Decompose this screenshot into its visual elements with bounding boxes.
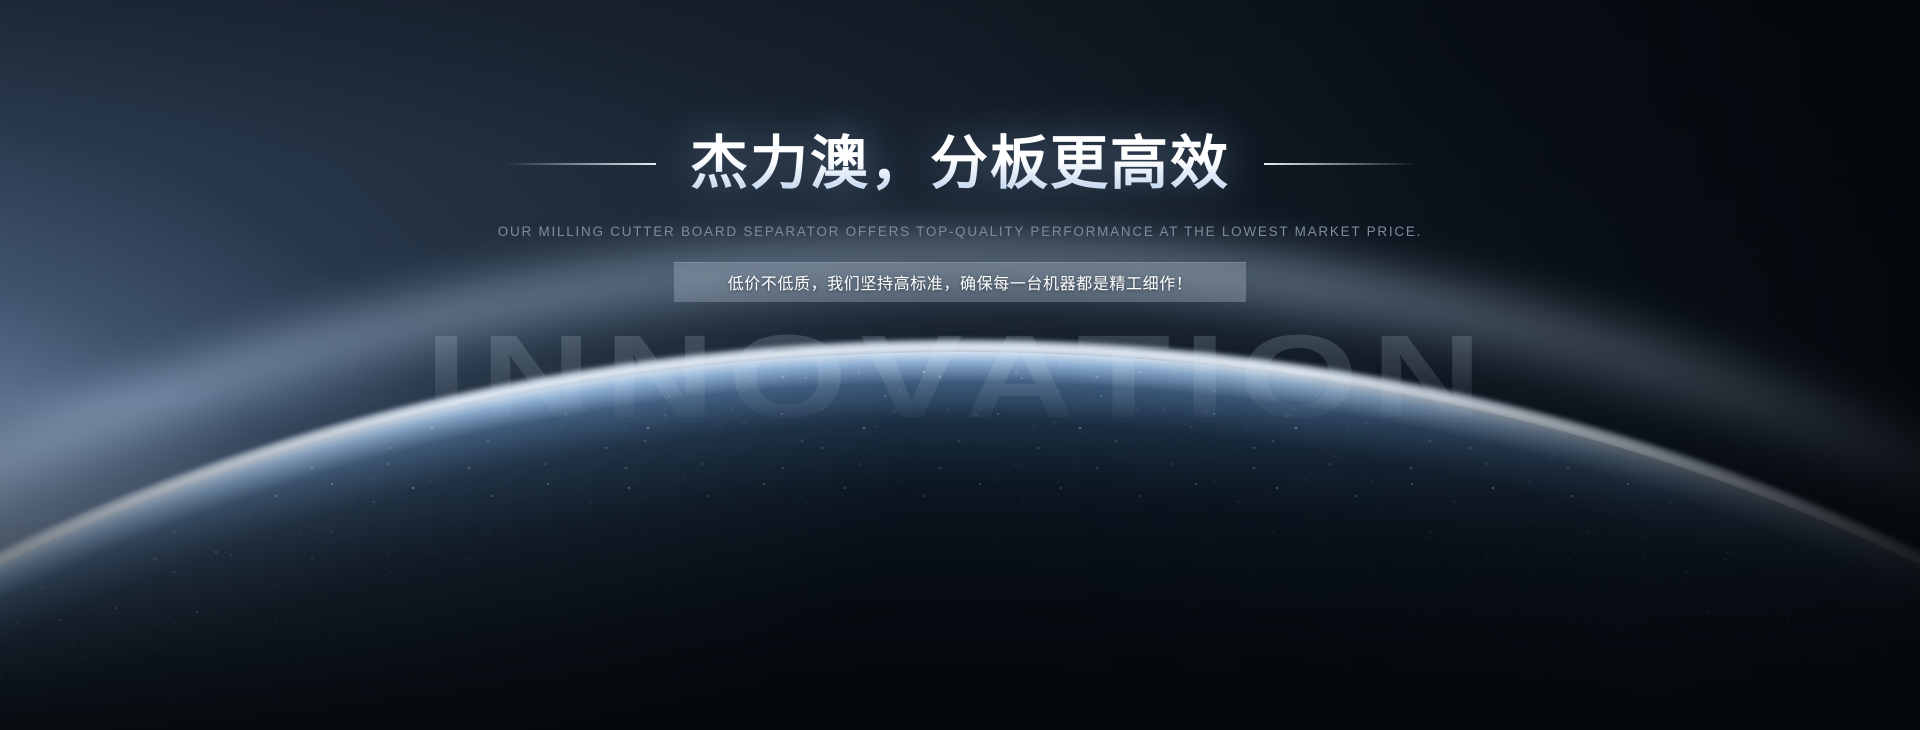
subtitle-english: OUR MILLING CUTTER BOARD SEPARATOR OFFER… — [0, 224, 1920, 239]
title-rule-right-icon — [1264, 163, 1416, 165]
title-row: 杰力澳，分板更高效 — [0, 132, 1920, 196]
tagline-text: 低价不低质，我们坚持高标准，确保每一台机器都是精工细作！ — [728, 270, 1193, 294]
innovation-watermark: INNOVATION — [0, 318, 1920, 436]
tagline-row: 低价不低质，我们坚持高标准，确保每一台机器都是精工细作！ — [0, 262, 1920, 302]
hero-banner: INNOVATION 杰力澳，分板更高效 OUR MILLING CUTTER … — [0, 0, 1920, 730]
title-rule-left-icon — [504, 163, 656, 165]
tagline-bar: 低价不低质，我们坚持高标准，确保每一台机器都是精工细作！ — [674, 262, 1246, 302]
banner-content: 杰力澳，分板更高效 OUR MILLING CUTTER BOARD SEPAR… — [0, 0, 1920, 302]
page-title: 杰力澳，分板更高效 — [690, 132, 1230, 196]
